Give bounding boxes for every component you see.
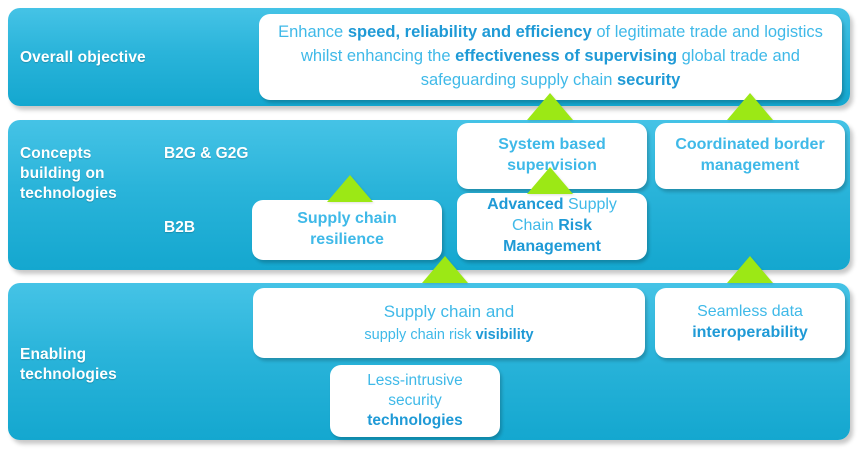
resilience-line-1: Supply chain [297, 210, 397, 227]
card-supply-chain-visibility-text: Supply chain and supply chain risk visib… [253, 301, 645, 345]
arrow-up-icon-interop-to-concepts [727, 256, 773, 283]
arrow-up-icon-border-to-objective [727, 93, 773, 120]
card-supply-chain-resilience[interactable]: Supply chain resilience [252, 200, 442, 260]
card-supply-chain-resilience-text: Supply chain resilience [252, 209, 442, 251]
seg-enhance: Enhance [278, 23, 348, 41]
card-advanced-supply-chain-risk-management-text: Advanced Supply Chain Risk Management [457, 195, 647, 257]
arrow-up-icon-system-to-objective [527, 93, 573, 120]
seg-security: security [617, 71, 680, 89]
band-label-overall-objective: Overall objective [20, 48, 146, 68]
visibility-line-1: Supply chain and [384, 302, 514, 321]
asrm-chain: Chain [512, 217, 558, 234]
card-overall-objective[interactable]: Enhance speed, reliability and efficienc… [259, 14, 842, 100]
lessintr-line-1: Less-intrusive [367, 372, 463, 389]
card-seamless-data-interoperability-text: Seamless data interoperability [655, 302, 845, 344]
system-line-1: System based [498, 136, 606, 153]
asrm-advanced: Advanced [487, 196, 563, 213]
asrm-risk: Risk [558, 217, 592, 234]
sub-label-b2b: B2B [164, 219, 195, 237]
arrow-up-icon-resilience-up [327, 175, 373, 202]
band-label-enabling-technologies: Enabling technologies [20, 345, 117, 385]
seg-effectiveness-supervising: effectiveness of supervising [455, 47, 677, 65]
card-overall-objective-text: Enhance speed, reliability and efficienc… [259, 21, 842, 93]
card-advanced-supply-chain-risk-management[interactable]: Advanced Supply Chain Risk Management [457, 193, 647, 260]
card-supply-chain-visibility[interactable]: Supply chain and supply chain risk visib… [253, 288, 645, 358]
band-label-concepts-building-on-technologies: Concepts building on technologies [20, 144, 117, 203]
seg-speed-reliability-efficiency: speed, reliability and efficiency [348, 23, 592, 41]
arrow-up-icon-asrm-to-system [527, 167, 573, 194]
border-line-2: management [701, 157, 800, 174]
card-coordinated-border-management[interactable]: Coordinated border management [655, 123, 845, 189]
card-coordinated-border-management-text: Coordinated border management [655, 135, 845, 177]
card-seamless-data-interoperability[interactable]: Seamless data interoperability [655, 288, 845, 358]
asrm-management: Management [503, 238, 601, 255]
lessintr-line-2: security [388, 392, 441, 409]
lessintr-line-3: technologies [367, 412, 463, 429]
interop-line-1: Seamless data [697, 303, 803, 320]
sub-label-b2g-and-g2g: B2G & G2G [164, 145, 248, 163]
asrm-supply: Supply [564, 196, 617, 213]
resilience-line-2: resilience [310, 231, 384, 248]
card-less-intrusive-security-technologies-text: Less-intrusive security technologies [330, 371, 500, 431]
arrow-up-icon-visibility-to-concepts [422, 256, 468, 283]
border-line-1: Coordinated border [675, 136, 824, 153]
visibility-line-2b: visibility [476, 327, 534, 343]
diagram-canvas: Overall objective Enhance speed, reliabi… [0, 0, 867, 449]
visibility-line-2a: supply chain risk [364, 327, 475, 343]
interop-line-2: interoperability [692, 324, 808, 341]
card-less-intrusive-security-technologies[interactable]: Less-intrusive security technologies [330, 365, 500, 437]
